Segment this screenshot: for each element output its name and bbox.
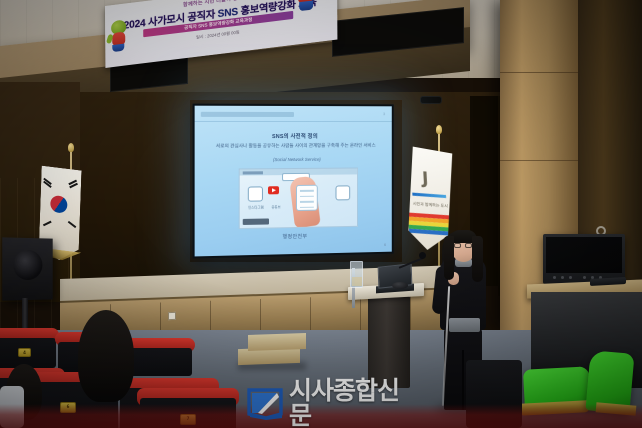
sisa-jonghap-shinmun-logo-icon [246, 387, 284, 420]
audience-seat [126, 338, 192, 366]
projection-screen: 3 SNS의 사전적 정의 서로의 관심사나 활동을 공유하는 사람들 사이의 … [193, 104, 394, 259]
city-emblem: J [422, 169, 429, 190]
water-bottle-icon [350, 261, 363, 288]
slide-footer: 행정안전부 [195, 231, 392, 242]
smartphone-icon [296, 185, 318, 211]
speaker-hair-left [444, 236, 454, 280]
slide-page-top: 3 [383, 112, 385, 116]
speaker-shirt-hem [449, 318, 480, 332]
icon-label: 유튜브 [267, 204, 285, 209]
column-seam [500, 160, 578, 161]
seat-number: 4 [19, 349, 30, 357]
speaker-leg-seam [462, 350, 464, 410]
column-seam [500, 72, 578, 73]
microphone-base [392, 282, 408, 289]
watermark-text: 시사종합신문 [289, 378, 418, 428]
slide-title: SNS의 사전적 정의 [195, 132, 392, 140]
illustration-tag [243, 218, 269, 225]
kakaotalk-icon [336, 185, 351, 200]
podium [368, 296, 410, 388]
stage-step-upper [248, 333, 306, 351]
monitor-panel [546, 237, 622, 273]
instagram-icon [248, 186, 263, 201]
slide-caption: (Social Network Service) [205, 156, 386, 163]
speaker-hair-right [472, 236, 483, 282]
icon-label: 인스타그램 [247, 204, 265, 209]
slide-body: 서로의 관심사나 활동을 공유하는 사람들 사이의 관계망을 구축해 주는 온라… [205, 143, 386, 150]
city-flag-subtitle: 시민과 함께하는 도시 [413, 201, 449, 210]
slide-page-number: 6 [384, 243, 386, 247]
speaker-cone-icon [13, 250, 42, 280]
microphone-head-icon [419, 252, 426, 259]
watermark: 시사종합신문 [246, 383, 418, 423]
flag-finial-left-icon [68, 143, 74, 152]
wall-outlet-icon [168, 312, 176, 320]
photograph-scene: 함께하는 시민 더불어 행복한 도시 2024 사가모시 공직자 SNS 홍보역… [0, 0, 642, 428]
slide-header-tab [201, 112, 294, 117]
slide-header-rule [195, 121, 392, 122]
youtube-icon [268, 186, 279, 194]
speaker-stand [22, 298, 28, 332]
audience-person [78, 310, 134, 402]
ceiling-speaker-icon [420, 96, 442, 104]
city-flag-bar [412, 193, 446, 198]
control-monitor [543, 234, 625, 284]
eyeglasses-icon [454, 243, 473, 248]
slide-illustration: 인스타그램 유튜브 [239, 167, 358, 229]
flag-finial-right-icon [436, 125, 442, 134]
audience-seat: 4 [0, 328, 56, 358]
pa-speaker-cabinet [2, 237, 52, 300]
